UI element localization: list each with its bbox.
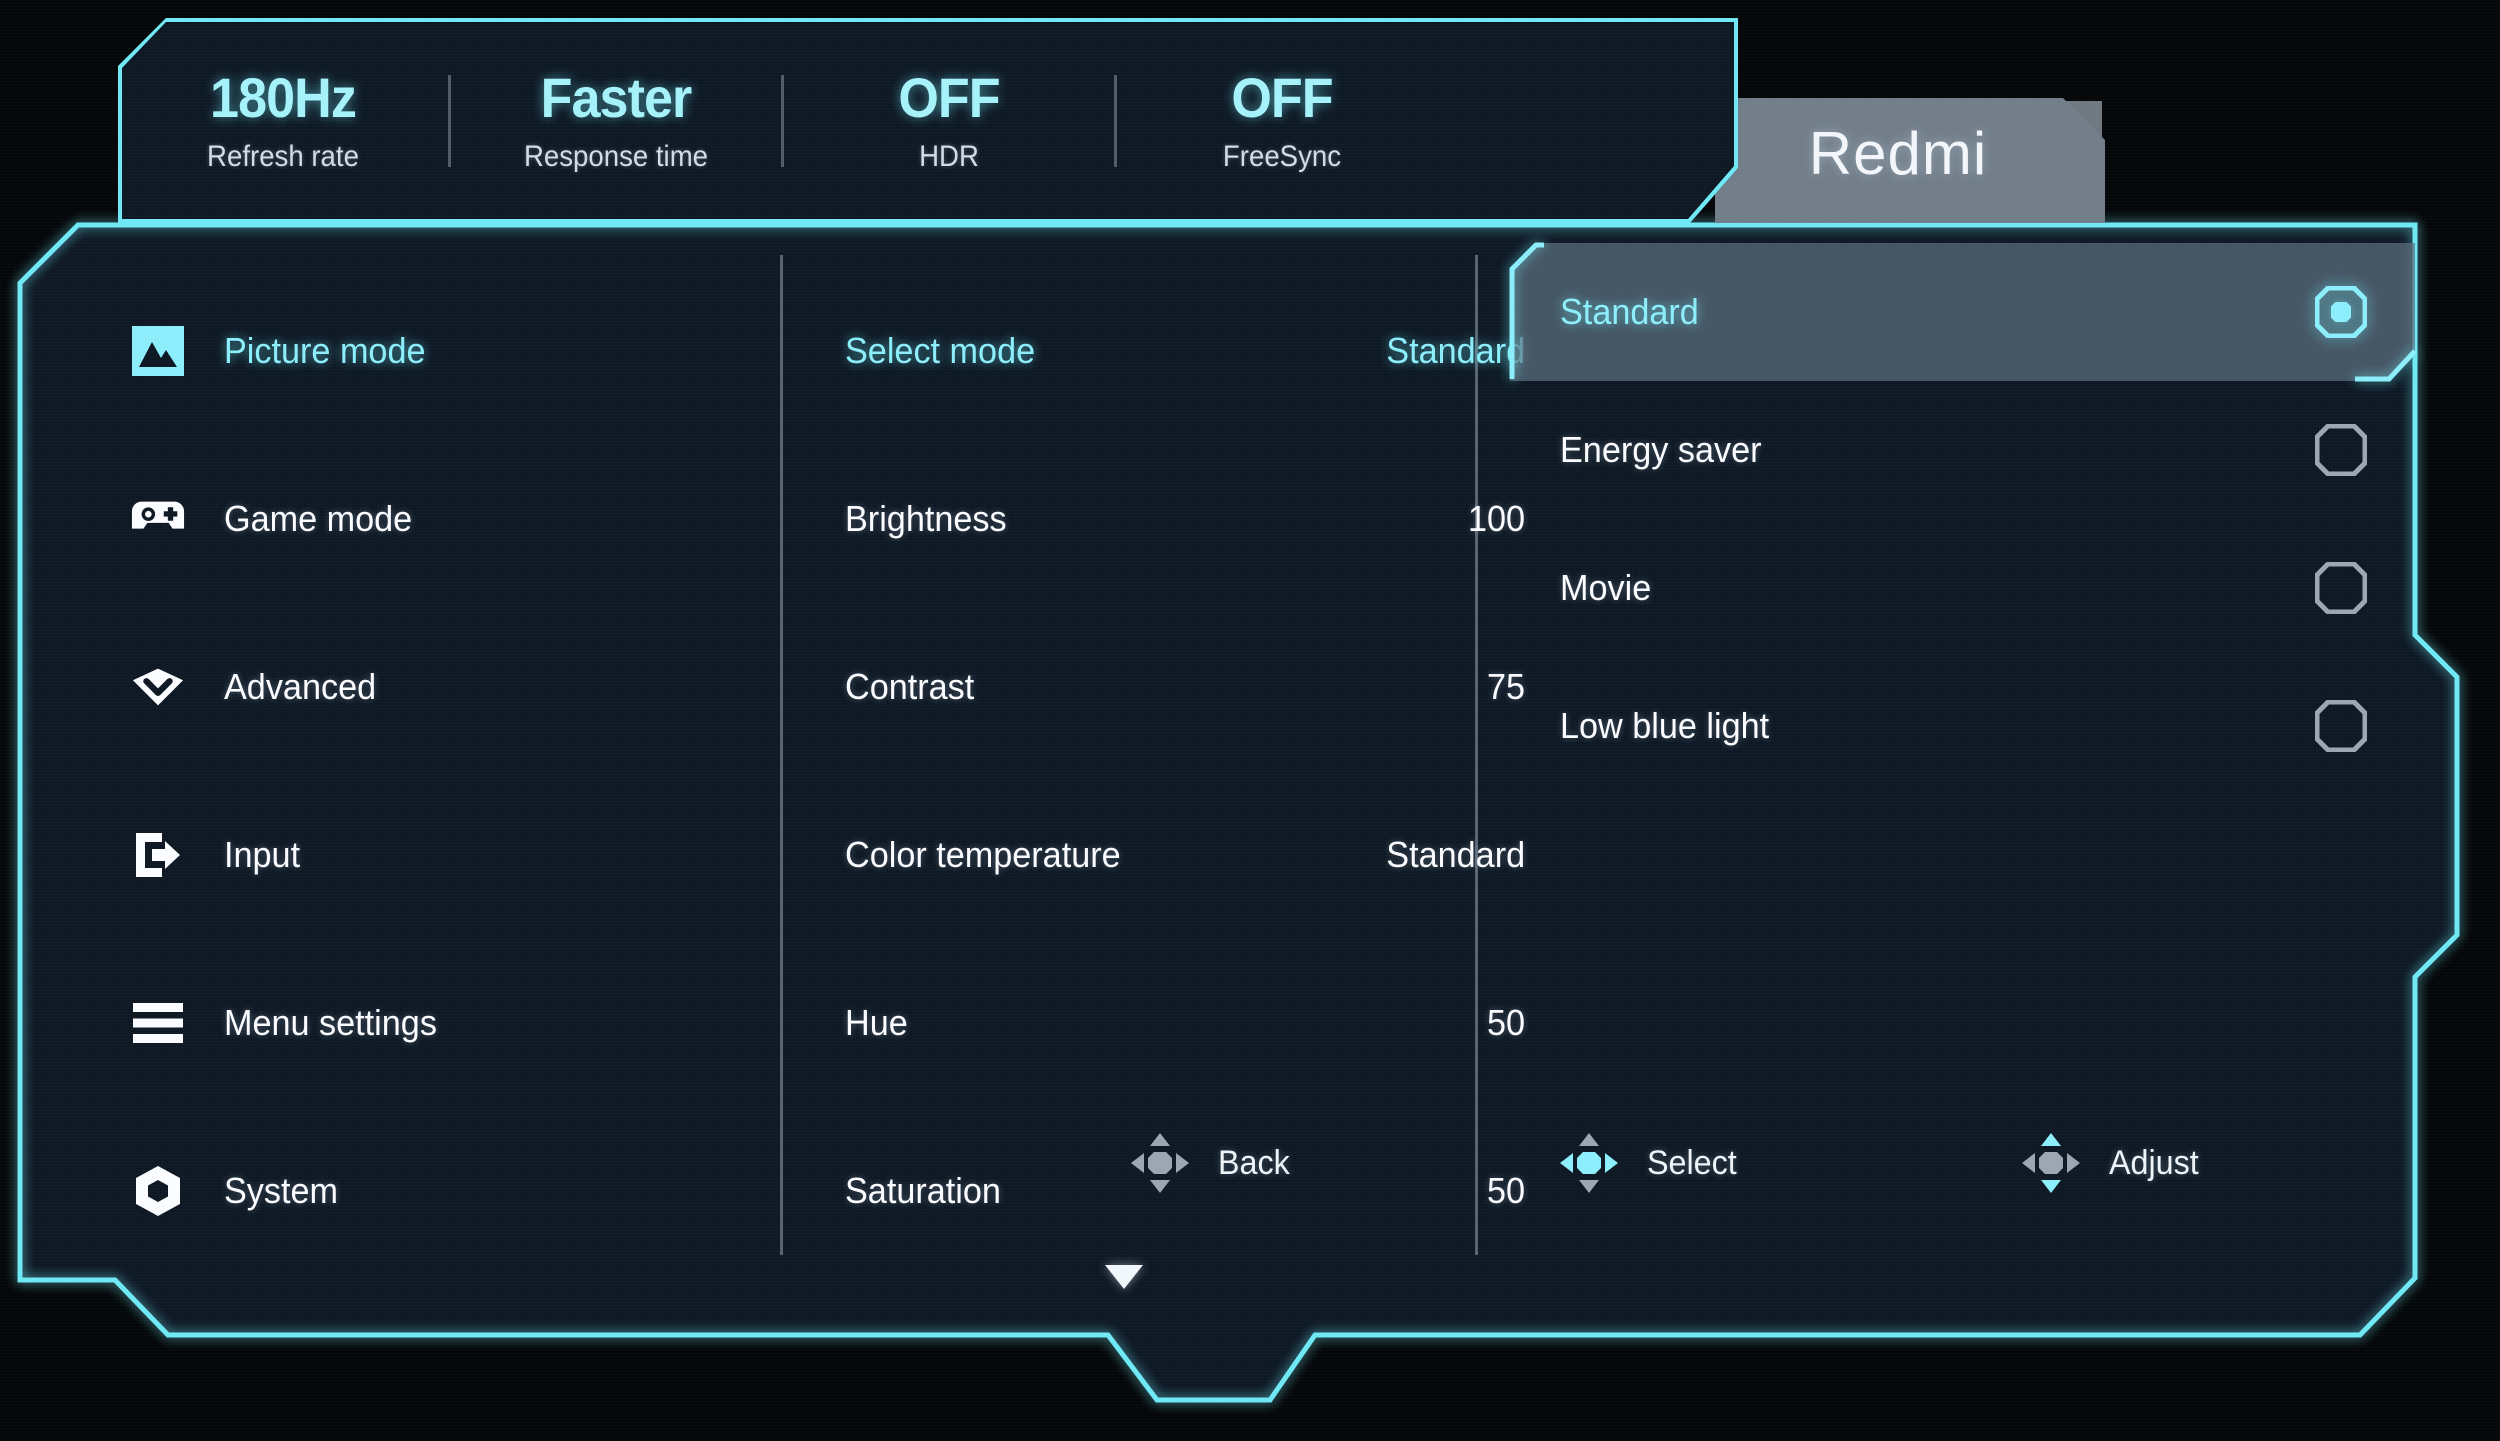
- gamepad-icon: [130, 491, 186, 547]
- options-list: Standard Energy saver Movie Low blue lig…: [1510, 243, 2415, 795]
- option-radio[interactable]: [2315, 700, 2367, 752]
- option-label: Energy saver: [1560, 432, 1762, 468]
- sidebar-item-label: Picture mode: [224, 333, 426, 369]
- header-stat-value-hdr: OFF: [796, 70, 1103, 126]
- radio-unselected-icon[interactable]: [2315, 700, 2367, 752]
- sidebar-nav: Picture mode Game mode Advanced Input Me…: [130, 267, 770, 1275]
- input-arrow-icon: [132, 830, 184, 880]
- sidebar-item-input[interactable]: Input: [130, 771, 770, 939]
- setting-value: 50: [1487, 1005, 1525, 1041]
- setting-label: Hue: [845, 1005, 908, 1041]
- option-radio[interactable]: [2315, 562, 2367, 614]
- footer-hint-select[interactable]: Select: [1559, 1132, 1742, 1194]
- radio-unselected-icon[interactable]: [2315, 424, 2367, 476]
- dpad-icon: [1559, 1132, 1619, 1194]
- footer-hint-back[interactable]: Back: [1130, 1132, 1294, 1194]
- option-row-movie[interactable]: Movie: [1510, 519, 2415, 657]
- sidebar-item-label: Advanced: [224, 669, 376, 705]
- footer-hint-label: Adjust: [2109, 1146, 2199, 1180]
- setting-row-contrast[interactable]: Contrast75: [845, 603, 1525, 771]
- brand-name: Redmi: [1715, 124, 2081, 184]
- sidebar-item-label: Game mode: [224, 501, 412, 537]
- sidebar-item-label: System: [224, 1173, 338, 1209]
- gem-icon: [130, 659, 186, 715]
- sidebar-item-system[interactable]: System: [130, 1107, 770, 1275]
- option-label: Low blue light: [1560, 708, 1769, 744]
- gamepad-icon: [130, 497, 186, 541]
- sidebar-item-game-mode[interactable]: Game mode: [130, 435, 770, 603]
- header-stats-row: 180HzRefresh rateFasterResponse timeOFFH…: [118, 18, 1678, 223]
- option-row-standard[interactable]: Standard: [1510, 243, 2415, 381]
- sidebar-item-menu-settings[interactable]: Menu settings: [130, 939, 770, 1107]
- hamburger-icon: [131, 1001, 185, 1045]
- header-stat-label-refresh-rate: Refresh rate: [131, 142, 435, 172]
- option-row-energy-saver[interactable]: Energy saver: [1510, 381, 2415, 519]
- radio-selected-icon[interactable]: [2315, 286, 2367, 338]
- setting-row-brightness[interactable]: Brightness100: [845, 435, 1525, 603]
- footer-hint-adjust[interactable]: Adjust: [2021, 1132, 2204, 1194]
- header-stat-value-refresh-rate: 180Hz: [130, 70, 437, 126]
- setting-label: Saturation: [845, 1173, 1001, 1209]
- option-radio[interactable]: [2315, 424, 2367, 476]
- hexagon-gear-icon: [131, 1165, 185, 1217]
- setting-value: Standard: [1386, 333, 1525, 369]
- header-stat-hdr: OFFHDR: [784, 70, 1114, 172]
- dpad-icon: [1130, 1132, 1190, 1194]
- dpad-icon: [2021, 1132, 2081, 1194]
- setting-label: Brightness: [845, 501, 1007, 537]
- option-radio[interactable]: [2315, 286, 2367, 338]
- footer-hint-label: Select: [1647, 1146, 1737, 1180]
- sidebar-item-advanced[interactable]: Advanced: [130, 603, 770, 771]
- status-header: 180HzRefresh rateFasterResponse timeOFFH…: [118, 18, 1738, 223]
- footer-hint-label: Back: [1218, 1146, 1290, 1180]
- header-stat-value-response-time: Faster: [463, 70, 770, 126]
- sidebar-item-label: Menu settings: [224, 1005, 437, 1041]
- option-label: Standard: [1560, 294, 1699, 330]
- scroll-down-caret-icon[interactable]: [1105, 1265, 1143, 1289]
- setting-label: Contrast: [845, 669, 974, 705]
- picture-icon: [131, 325, 185, 377]
- option-label: Movie: [1560, 570, 1651, 606]
- header-stat-freesync: OFFFreeSync: [1117, 70, 1447, 172]
- setting-label: Select mode: [845, 333, 1035, 369]
- brand-badge: Redmi: [1715, 98, 2105, 223]
- input-arrow-icon: [130, 827, 186, 883]
- sidebar-item-picture-mode[interactable]: Picture mode: [130, 267, 770, 435]
- header-stat-label-hdr: HDR: [797, 142, 1101, 172]
- setting-row-color-temperature[interactable]: Color temperatureStandard: [845, 771, 1525, 939]
- gem-icon: [130, 665, 186, 709]
- setting-row-hue[interactable]: Hue50: [845, 939, 1525, 1107]
- setting-row-select-mode[interactable]: Select modeStandard: [845, 267, 1525, 435]
- osd-main-panel: Picture mode Game mode Advanced Input Me…: [20, 225, 2475, 1425]
- radio-unselected-icon[interactable]: [2315, 562, 2367, 614]
- sidebar-item-label: Input: [224, 837, 300, 873]
- header-stat-value-freesync: OFF: [1129, 70, 1436, 126]
- header-stat-response-time: FasterResponse time: [451, 70, 781, 172]
- setting-value: Standard: [1386, 837, 1525, 873]
- header-stat-label-response-time: Response time: [464, 142, 768, 172]
- header-stat-label-freesync: FreeSync: [1130, 142, 1434, 172]
- dpad-icon: [2021, 1132, 2081, 1194]
- dpad-icon: [1559, 1132, 1619, 1194]
- hexagon-gear-icon: [130, 1163, 186, 1219]
- footer-hint-bar: Back Select Adjust: [1130, 1108, 2420, 1218]
- hamburger-icon: [130, 995, 186, 1051]
- column-divider-1: [780, 255, 783, 1255]
- picture-icon: [130, 323, 186, 379]
- header-stat-refresh-rate: 180HzRefresh rate: [118, 70, 448, 172]
- option-row-low-blue-light[interactable]: Low blue light: [1510, 657, 2415, 795]
- dpad-icon: [1130, 1132, 1190, 1194]
- setting-label: Color temperature: [845, 837, 1121, 873]
